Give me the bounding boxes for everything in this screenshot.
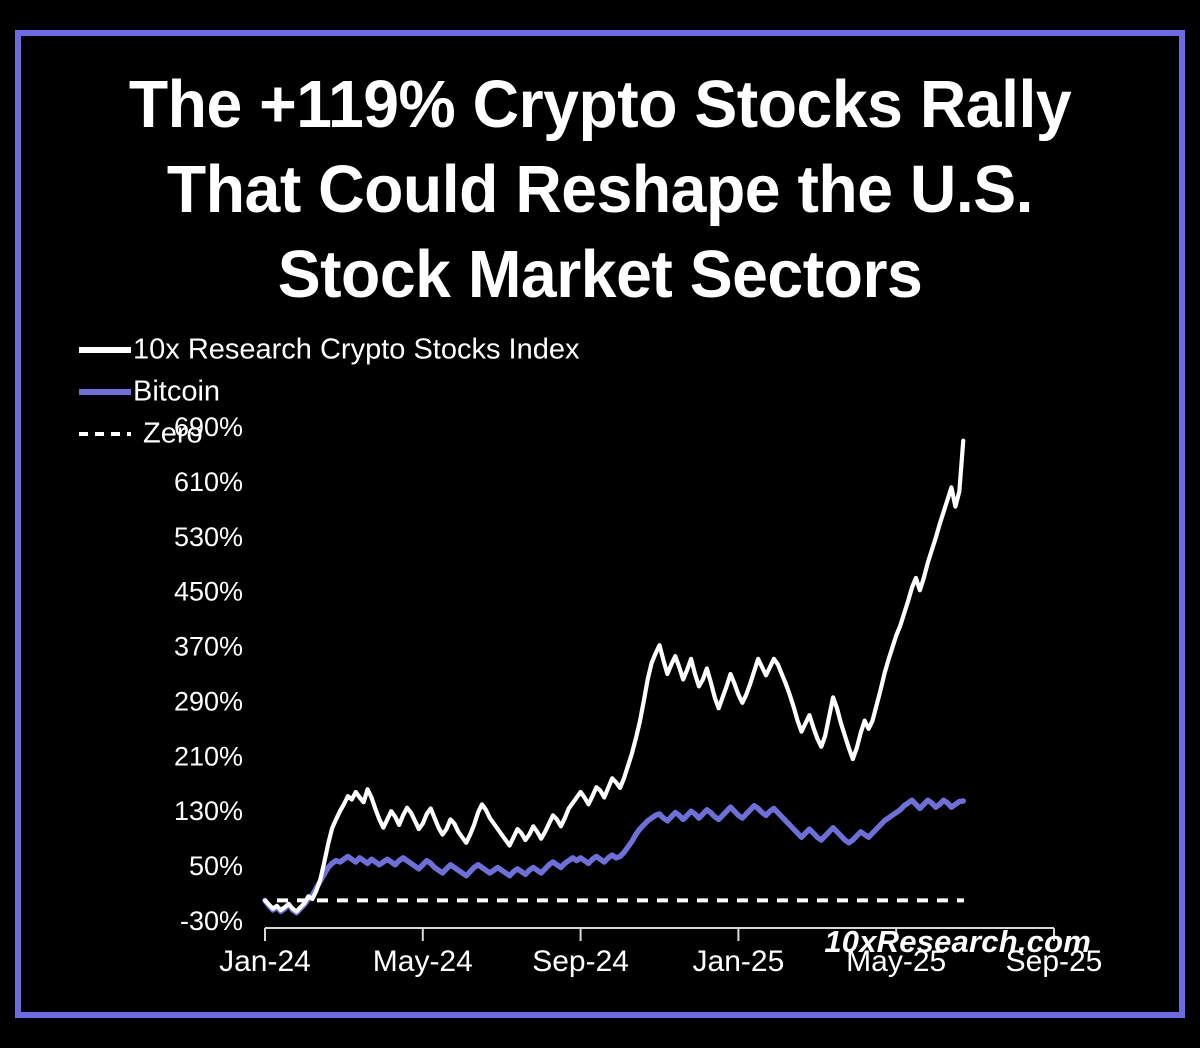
title-line-1: The +119% Crypto Stocks Rally (44, 62, 1156, 147)
legend-label: Bitcoin (133, 376, 220, 408)
line-chart: -30%50%130%210%290%370%450%530%610%690% … (21, 336, 1191, 1016)
y-axis-tick-label: 290% (174, 686, 243, 716)
legend-label: Zero (143, 418, 203, 450)
y-axis-tick-label: 130% (174, 796, 243, 826)
x-axis-tick-label: May-24 (373, 945, 473, 978)
y-axis-tick-label: 50% (189, 851, 243, 881)
legend-label: 10x Research Crypto Stocks Index (133, 336, 580, 366)
y-axis-tick-label: 530% (174, 522, 243, 552)
watermark-attribution: 10xResearch.com (824, 924, 1091, 960)
x-axis-tick-label: Jan-25 (693, 945, 785, 978)
page-title: The +119% Crypto Stocks Rally That Could… (44, 62, 1156, 317)
crypto-stocks-index-series-line (265, 441, 963, 912)
y-axis-tick-label: 450% (174, 577, 243, 607)
title-line-3: Stock Market Sectors (44, 232, 1156, 317)
y-axis-tick-label: 370% (174, 632, 243, 662)
y-axis-tick-label: -30% (180, 906, 243, 936)
chart-container: -30%50%130%210%290%370%450%530%610%690% … (21, 336, 1191, 1016)
poster-frame: The +119% Crypto Stocks Rally That Could… (15, 30, 1185, 1018)
y-axis-tick-label: 210% (174, 741, 243, 771)
x-axis-tick-label: Sep-24 (532, 945, 629, 978)
title-line-2: That Could Reshape the U.S. (44, 147, 1156, 232)
y-axis-tick-labels: -30%50%130%210%290%370%450%530%610%690% (174, 412, 243, 936)
poster-canvas: The +119% Crypto Stocks Rally That Could… (0, 0, 1200, 1048)
chart-legend: 10x Research Crypto Stocks IndexBitcoinZ… (79, 336, 580, 450)
y-axis-tick-label: 610% (174, 467, 243, 497)
bitcoin-series-line (265, 800, 963, 913)
x-axis-tick-label: Jan-24 (219, 945, 311, 978)
